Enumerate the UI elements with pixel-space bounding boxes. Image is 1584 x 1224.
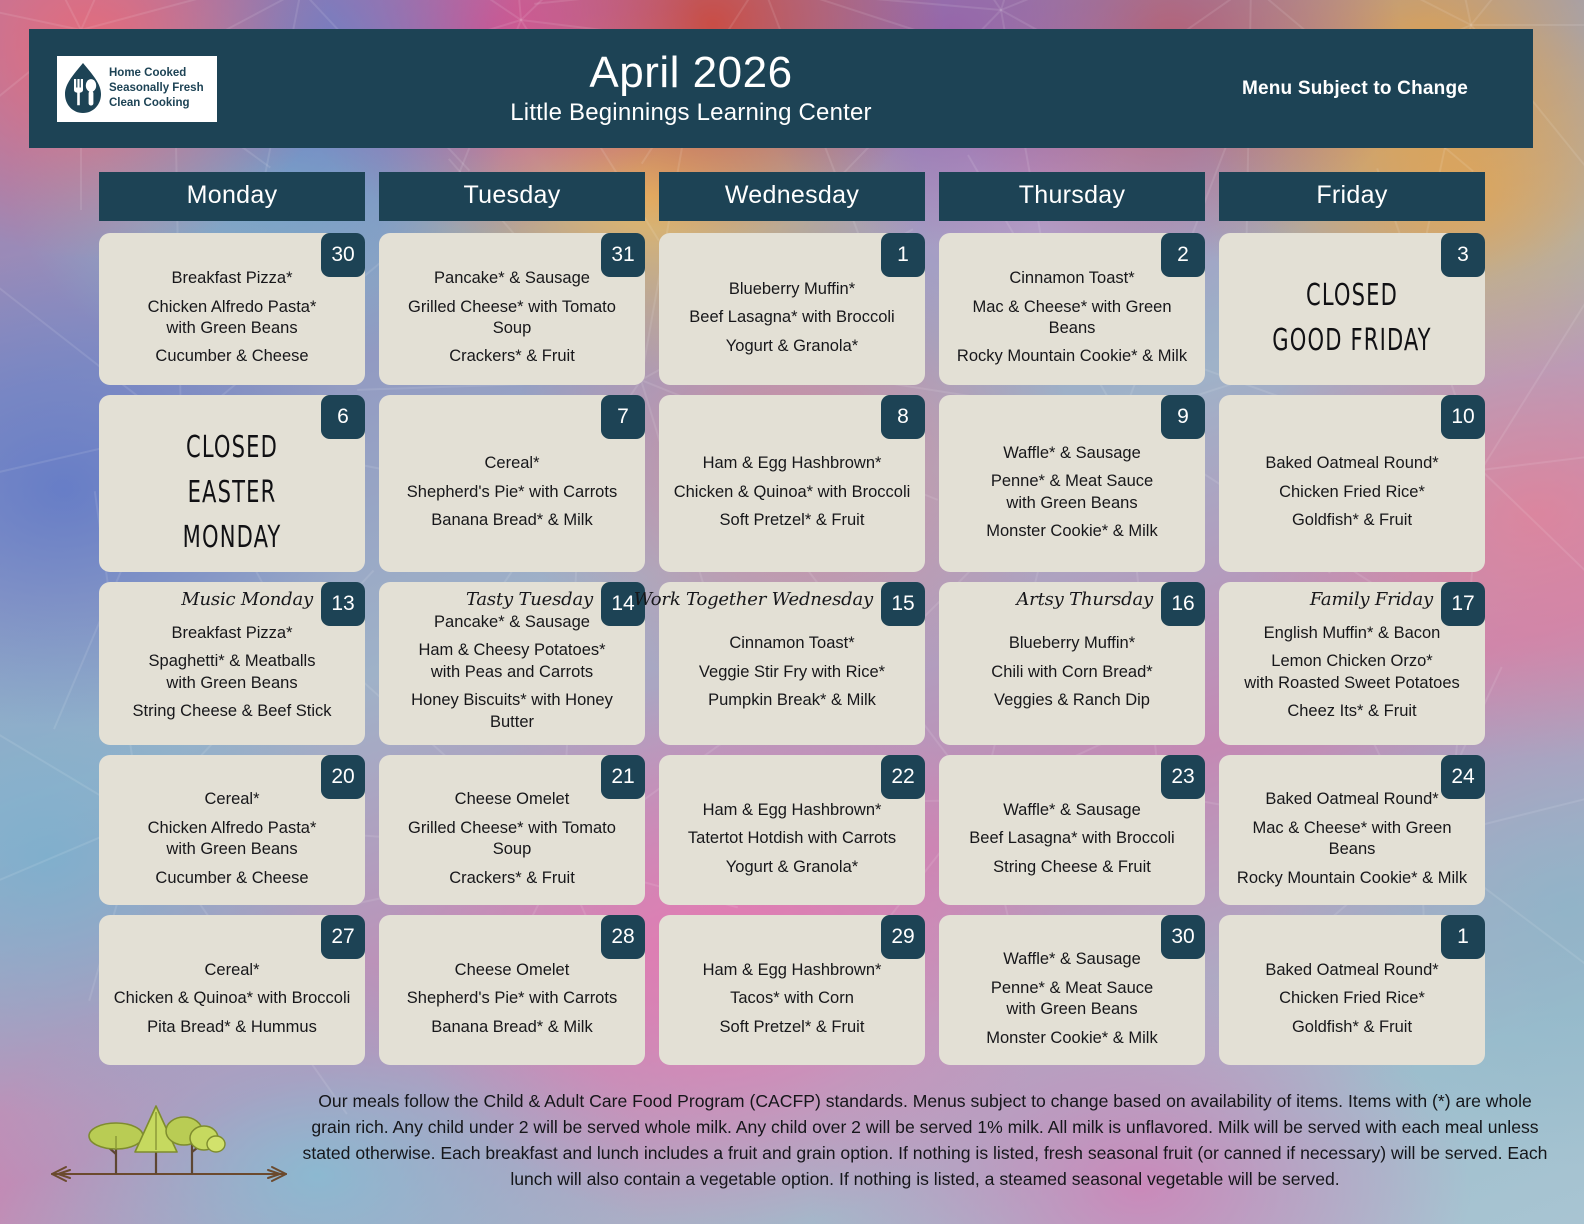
meal-item: Ham & Egg Hashbrown* (669, 960, 915, 981)
meal-item: Chicken Alfredo Pasta*with Green Beans (109, 818, 355, 861)
meal-line: Chicken & Quinoa* with Broccoli (109, 988, 355, 1009)
day-cell[interactable]: 10Baked Oatmeal Round*Chicken Fried Rice… (1219, 395, 1485, 572)
meal-line: Banana Bread* & Milk (389, 510, 635, 531)
meal-list: Waffle* & SausagePenne* & Meat Saucewith… (949, 949, 1195, 1049)
day-number: 7 (601, 395, 645, 439)
meal-line: Ham & Egg Hashbrown* (669, 800, 915, 821)
meal-line: Penne* & Meat Sauce (949, 471, 1195, 492)
meal-item: Cucumber & Cheese (109, 346, 355, 367)
day-cell[interactable]: Music Monday13Breakfast Pizza*Spaghetti*… (99, 582, 365, 745)
closed-line: GOOD FRIDAY (1256, 318, 1448, 363)
meal-line: Honey Biscuits* with Honey Butter (389, 690, 635, 733)
day-number: 29 (881, 915, 925, 959)
meal-line: Waffle* & Sausage (949, 443, 1195, 464)
meal-line: Baked Oatmeal Round* (1229, 453, 1475, 474)
meal-line: Rocky Mountain Cookie* & Milk (1229, 868, 1475, 889)
day-cell[interactable]: 9Waffle* & SausagePenne* & Meat Saucewit… (939, 395, 1205, 572)
meal-item: Baked Oatmeal Round* (1229, 960, 1475, 981)
meal-line: String Cheese & Beef Stick (109, 701, 355, 722)
meal-item: Rocky Mountain Cookie* & Milk (1229, 868, 1475, 889)
meal-list: Ham & Egg Hashbrown*Tatertot Hotdish wit… (669, 800, 915, 878)
meal-item: Cucumber & Cheese (109, 868, 355, 889)
day-number: 15 (881, 582, 925, 626)
meal-item: Cheese Omelet (389, 789, 635, 810)
day-cell[interactable]: 28Cheese OmeletShepherd's Pie* with Carr… (379, 915, 645, 1065)
closed-notice: CLOSEDGOOD FRIDAY (1229, 273, 1475, 363)
meal-list: Cinnamon Toast*Veggie Stir Fry with Rice… (669, 633, 915, 711)
day-number: 3 (1441, 233, 1485, 277)
meal-line: Mac & Cheese* with Green Beans (1229, 818, 1475, 861)
meal-item: Pumpkin Break* & Milk (669, 690, 915, 711)
meal-list: Pancake* & SausageHam & Cheesy Potatoes*… (389, 612, 635, 733)
day-cell[interactable]: 7Cereal*Shepherd's Pie* with CarrotsBana… (379, 395, 645, 572)
day-cell[interactable]: 1Baked Oatmeal Round*Chicken Fried Rice*… (1219, 915, 1485, 1065)
meal-item: Goldfish* & Fruit (1229, 1017, 1475, 1038)
meal-list: Baked Oatmeal Round*Chicken Fried Rice*G… (1229, 453, 1475, 531)
title-block: April 2026 Little Beginnings Learning Ce… (177, 50, 1205, 126)
meal-line: Ham & Egg Hashbrown* (669, 453, 915, 474)
calendar-week-row: 30Breakfast Pizza*Chicken Alfredo Pasta*… (99, 233, 1485, 385)
meal-list: Cheese OmeletGrilled Cheese* with Tomato… (389, 789, 635, 889)
menu-calendar: MondayTuesdayWednesdayThursdayFriday 30B… (99, 172, 1485, 1075)
meal-item: Waffle* & Sausage (949, 949, 1195, 970)
meal-line: with Roasted Sweet Potatoes (1229, 673, 1475, 694)
meal-line: Veggies & Ranch Dip (949, 690, 1195, 711)
meal-line: Mac & Cheese* with Green Beans (949, 297, 1195, 340)
meal-item: Banana Bread* & Milk (389, 1017, 635, 1038)
meal-line: Cereal* (389, 453, 635, 474)
meal-item: Cinnamon Toast* (669, 633, 915, 654)
meal-item: Lemon Chicken Orzo*with Roasted Sweet Po… (1229, 651, 1475, 694)
day-header-monday: Monday (99, 172, 365, 221)
meal-item: Cinnamon Toast* (949, 268, 1195, 289)
meal-line: Banana Bread* & Milk (389, 1017, 635, 1038)
meal-line: Goldfish* & Fruit (1229, 1017, 1475, 1038)
meal-line: Crackers* & Fruit (389, 868, 635, 889)
meal-item: Monster Cookie* & Milk (949, 1028, 1195, 1049)
day-cell[interactable]: 6CLOSEDEASTER MONDAY (99, 395, 365, 572)
meal-line: Rocky Mountain Cookie* & Milk (949, 346, 1195, 367)
calendar-week-row: 20Cereal*Chicken Alfredo Pasta*with Gree… (99, 755, 1485, 905)
meal-line: Pumpkin Break* & Milk (669, 690, 915, 711)
meal-list: Cereal*Chicken & Quinoa* with BroccoliPi… (109, 960, 355, 1038)
meal-line: Beef Lasagna* with Broccoli (949, 828, 1195, 849)
meal-item: Veggie Stir Fry with Rice* (669, 662, 915, 683)
meal-item: Blueberry Muffin* (949, 633, 1195, 654)
meal-line: Blueberry Muffin* (669, 279, 915, 300)
meal-line: Tatertot Hotdish with Carrots (669, 828, 915, 849)
day-number: 1 (881, 233, 925, 277)
meal-line: Baked Oatmeal Round* (1229, 789, 1475, 810)
meal-line: with Green Beans (949, 493, 1195, 514)
day-number: 8 (881, 395, 925, 439)
meal-item: Veggies & Ranch Dip (949, 690, 1195, 711)
meal-item: Soft Pretzel* & Fruit (669, 510, 915, 531)
day-header-thursday: Thursday (939, 172, 1205, 221)
day-cell[interactable]: 27Cereal*Chicken & Quinoa* with Broccoli… (99, 915, 365, 1065)
meal-line: Cucumber & Cheese (109, 868, 355, 889)
day-cell[interactable]: Artsy Thursday16Blueberry Muffin*Chili w… (939, 582, 1205, 745)
meal-item: Cheese Omelet (389, 960, 635, 981)
day-number: 30 (1161, 915, 1205, 959)
meal-item: Pancake* & Sausage (389, 268, 635, 289)
meal-item: Mac & Cheese* with Green Beans (949, 297, 1195, 340)
day-cell[interactable]: 22Ham & Egg Hashbrown*Tatertot Hotdish w… (659, 755, 925, 905)
day-number: 22 (881, 755, 925, 799)
page-header: Home Cooked Seasonally Fresh Clean Cooki… (29, 29, 1533, 148)
meal-item: Chicken Fried Rice* (1229, 482, 1475, 503)
meal-line: Chicken Alfredo Pasta* (109, 818, 355, 839)
meal-line: Grilled Cheese* with Tomato Soup (389, 297, 635, 340)
meal-item: Cereal* (109, 960, 355, 981)
meal-line: Soft Pretzel* & Fruit (669, 510, 915, 531)
day-number: 1 (1441, 915, 1485, 959)
meal-line: Cereal* (109, 789, 355, 810)
day-theme-label: Tasty Tuesday (466, 589, 593, 610)
calendar-weeks: 30Breakfast Pizza*Chicken Alfredo Pasta*… (99, 233, 1485, 1065)
meal-item: Tacos* with Corn (669, 988, 915, 1009)
cacfp-disclaimer: Our meals follow the Child & Adult Care … (300, 1088, 1550, 1192)
meal-item: Shepherd's Pie* with Carrots (389, 988, 635, 1009)
meal-line: Cheez Its* & Fruit (1229, 701, 1475, 722)
day-cell[interactable]: 1Blueberry Muffin*Beef Lasagna* with Bro… (659, 233, 925, 385)
meal-line: Blueberry Muffin* (949, 633, 1195, 654)
meal-line: Pancake* & Sausage (389, 268, 635, 289)
meal-item: English Muffin* & Bacon (1229, 623, 1475, 644)
meal-item: Ham & Cheesy Potatoes*with Peas and Carr… (389, 640, 635, 683)
meal-line: Spaghetti* & Meatballs (109, 651, 355, 672)
day-number: 30 (321, 233, 365, 277)
day-number: 10 (1441, 395, 1485, 439)
meal-item: Goldfish* & Fruit (1229, 510, 1475, 531)
day-cell[interactable]: Tasty Tuesday14Pancake* & SausageHam & C… (379, 582, 645, 745)
trees-on-arrow-illustration (44, 1086, 294, 1196)
meal-line: Cinnamon Toast* (669, 633, 915, 654)
day-theme-label: Music Monday (181, 589, 313, 610)
meal-item: Baked Oatmeal Round* (1229, 789, 1475, 810)
meal-line: Shepherd's Pie* with Carrots (389, 988, 635, 1009)
day-number: 24 (1441, 755, 1485, 799)
day-number: 2 (1161, 233, 1205, 277)
day-number: 20 (321, 755, 365, 799)
meal-list: Breakfast Pizza*Chicken Alfredo Pasta*wi… (109, 268, 355, 368)
meal-item: Rocky Mountain Cookie* & Milk (949, 346, 1195, 367)
meal-line: Cereal* (109, 960, 355, 981)
meal-line: Tacos* with Corn (669, 988, 915, 1009)
meal-line: Monster Cookie* & Milk (949, 521, 1195, 542)
meal-item: Pancake* & Sausage (389, 612, 635, 633)
meal-item: Banana Bread* & Milk (389, 510, 635, 531)
closed-line: CLOSED (136, 425, 328, 470)
meal-line: with Green Beans (949, 999, 1195, 1020)
meal-line: Cucumber & Cheese (109, 346, 355, 367)
day-cell[interactable]: 29Ham & Egg Hashbrown*Tacos* with CornSo… (659, 915, 925, 1065)
meal-item: Monster Cookie* & Milk (949, 521, 1195, 542)
meal-item: Baked Oatmeal Round* (1229, 453, 1475, 474)
day-number: 13 (321, 582, 365, 626)
meal-item: Honey Biscuits* with Honey Butter (389, 690, 635, 733)
meal-line: Chicken Fried Rice* (1229, 988, 1475, 1009)
meal-item: Blueberry Muffin* (669, 279, 915, 300)
meal-item: Cereal* (389, 453, 635, 474)
day-cell[interactable]: Family Friday17English Muffin* & BaconLe… (1219, 582, 1485, 745)
meal-line: String Cheese & Fruit (949, 857, 1195, 878)
menu-page: Home Cooked Seasonally Fresh Clean Cooki… (0, 0, 1584, 1224)
calendar-week-row: Music Monday13Breakfast Pizza*Spaghetti*… (99, 582, 1485, 745)
meal-item: Chili with Corn Bread* (949, 662, 1195, 683)
meal-line: Crackers* & Fruit (389, 346, 635, 367)
meal-item: Chicken Alfredo Pasta*with Green Beans (109, 297, 355, 340)
day-cell[interactable]: 8Ham & Egg Hashbrown*Chicken & Quinoa* w… (659, 395, 925, 572)
day-number: 21 (601, 755, 645, 799)
calendar-week-row: 6CLOSEDEASTER MONDAY7Cereal*Shepherd's P… (99, 395, 1485, 572)
meal-item: Ham & Egg Hashbrown* (669, 800, 915, 821)
meal-line: Pancake* & Sausage (389, 612, 635, 633)
meal-item: Beef Lasagna* with Broccoli (949, 828, 1195, 849)
meal-list: Waffle* & SausageBeef Lasagna* with Broc… (949, 800, 1195, 878)
meal-list: English Muffin* & BaconLemon Chicken Orz… (1229, 623, 1475, 723)
meal-list: Cereal*Shepherd's Pie* with CarrotsBanan… (389, 453, 635, 531)
meal-item: Spaghetti* & Meatballswith Green Beans (109, 651, 355, 694)
meal-list: Baked Oatmeal Round*Chicken Fried Rice*G… (1229, 960, 1475, 1038)
page-footer: Our meals follow the Child & Adult Care … (0, 1078, 1584, 1224)
meal-item: String Cheese & Beef Stick (109, 701, 355, 722)
meal-line: Chili with Corn Bread* (949, 662, 1195, 683)
meal-item: Cereal* (109, 789, 355, 810)
meal-line: Monster Cookie* & Milk (949, 1028, 1195, 1049)
meal-line: with Green Beans (109, 673, 355, 694)
meal-item: Beef Lasagna* with Broccoli (669, 307, 915, 328)
day-number: 17 (1441, 582, 1485, 626)
day-cell[interactable]: 31Pancake* & SausageGrilled Cheese* with… (379, 233, 645, 385)
meal-list: Ham & Egg Hashbrown*Tacos* with CornSoft… (669, 960, 915, 1038)
day-number: 23 (1161, 755, 1205, 799)
meal-item: Yogurt & Granola* (669, 336, 915, 357)
day-cell[interactable]: 30Breakfast Pizza*Chicken Alfredo Pasta*… (99, 233, 365, 385)
day-theme-label: Family Friday (1310, 589, 1433, 610)
meal-list: Blueberry Muffin*Chili with Corn Bread*V… (949, 633, 1195, 711)
meal-list: Breakfast Pizza*Spaghetti* & Meatballswi… (109, 623, 355, 723)
day-number: 27 (321, 915, 365, 959)
leaf-fork-spoon-icon (63, 62, 103, 116)
closed-line: EASTER MONDAY (136, 470, 328, 560)
day-of-week-header-row: MondayTuesdayWednesdayThursdayFriday (99, 172, 1485, 221)
meal-item: Penne* & Meat Saucewith Green Beans (949, 471, 1195, 514)
meal-item: Breakfast Pizza* (109, 623, 355, 644)
closed-line: CLOSED (1256, 273, 1448, 318)
meal-list: Ham & Egg Hashbrown*Chicken & Quinoa* wi… (669, 453, 915, 531)
meal-line: Ham & Cheesy Potatoes* (389, 640, 635, 661)
meal-line: Chicken Fried Rice* (1229, 482, 1475, 503)
day-header-wednesday: Wednesday (659, 172, 925, 221)
meal-line: Penne* & Meat Sauce (949, 978, 1195, 999)
day-cell[interactable]: 21Cheese OmeletGrilled Cheese* with Toma… (379, 755, 645, 905)
meal-item: Mac & Cheese* with Green Beans (1229, 818, 1475, 861)
meal-line: Yogurt & Granola* (669, 857, 915, 878)
meal-line: Waffle* & Sausage (949, 949, 1195, 970)
day-header-friday: Friday (1219, 172, 1485, 221)
meal-line: Shepherd's Pie* with Carrots (389, 482, 635, 503)
meal-line: Ham & Egg Hashbrown* (669, 960, 915, 981)
meal-line: Breakfast Pizza* (109, 268, 355, 289)
meal-line: Chicken & Quinoa* with Broccoli (669, 482, 915, 503)
meal-item: Chicken Fried Rice* (1229, 988, 1475, 1009)
page-title: April 2026 (177, 50, 1205, 96)
day-cell[interactable]: 30Waffle* & SausagePenne* & Meat Saucewi… (939, 915, 1205, 1065)
meal-item: Crackers* & Fruit (389, 868, 635, 889)
meal-line: Baked Oatmeal Round* (1229, 960, 1475, 981)
menu-subject-to-change-note: Menu Subject to Change (1205, 78, 1505, 100)
day-cell[interactable]: 20Cereal*Chicken Alfredo Pasta*with Gree… (99, 755, 365, 905)
meal-item: Shepherd's Pie* with Carrots (389, 482, 635, 503)
meal-line: Beef Lasagna* with Broccoli (669, 307, 915, 328)
day-number: 28 (601, 915, 645, 959)
meal-item: Penne* & Meat Saucewith Green Beans (949, 978, 1195, 1021)
meal-list: Baked Oatmeal Round*Mac & Cheese* with G… (1229, 789, 1475, 889)
meal-item: String Cheese & Fruit (949, 857, 1195, 878)
meal-line: Grilled Cheese* with Tomato Soup (389, 818, 635, 861)
meal-list: Cereal*Chicken Alfredo Pasta*with Green … (109, 789, 355, 889)
meal-item: Chicken & Quinoa* with Broccoli (669, 482, 915, 503)
meal-line: Pita Bread* & Hummus (109, 1017, 355, 1038)
meal-line: with Green Beans (109, 318, 355, 339)
meal-line: with Green Beans (109, 839, 355, 860)
day-cell[interactable]: 3CLOSEDGOOD FRIDAY (1219, 233, 1485, 385)
meal-item: Pita Bread* & Hummus (109, 1017, 355, 1038)
meal-line: English Muffin* & Bacon (1229, 623, 1475, 644)
meal-list: Cheese OmeletShepherd's Pie* with Carrot… (389, 960, 635, 1038)
meal-item: Cheez Its* & Fruit (1229, 701, 1475, 722)
meal-line: Lemon Chicken Orzo* (1229, 651, 1475, 672)
meal-line: Cheese Omelet (389, 960, 635, 981)
meal-item: Breakfast Pizza* (109, 268, 355, 289)
meal-line: Yogurt & Granola* (669, 336, 915, 357)
day-header-tuesday: Tuesday (379, 172, 645, 221)
meal-line: Chicken Alfredo Pasta* (109, 297, 355, 318)
center-name: Little Beginnings Learning Center (177, 99, 1205, 127)
meal-line: Soft Pretzel* & Fruit (669, 1017, 915, 1038)
meal-line: Waffle* & Sausage (949, 800, 1195, 821)
meal-item: Ham & Egg Hashbrown* (669, 453, 915, 474)
meal-item: Tatertot Hotdish with Carrots (669, 828, 915, 849)
meal-list: Blueberry Muffin*Beef Lasagna* with Broc… (669, 279, 915, 357)
meal-line: Cheese Omelet (389, 789, 635, 810)
meal-item: Waffle* & Sausage (949, 800, 1195, 821)
day-theme-label: Artsy Thursday (1016, 589, 1153, 610)
day-number: 31 (601, 233, 645, 277)
meal-line: Goldfish* & Fruit (1229, 510, 1475, 531)
meal-item: Grilled Cheese* with Tomato Soup (389, 297, 635, 340)
meal-item: Soft Pretzel* & Fruit (669, 1017, 915, 1038)
day-cell[interactable]: Work Together Wednesday15Cinnamon Toast*… (659, 582, 925, 745)
meal-item: Crackers* & Fruit (389, 346, 635, 367)
meal-list: Waffle* & SausagePenne* & Meat Saucewith… (949, 443, 1195, 543)
day-number: 9 (1161, 395, 1205, 439)
day-theme-label: Work Together Wednesday (634, 589, 873, 610)
meal-item: Chicken & Quinoa* with Broccoli (109, 988, 355, 1009)
meal-line: Cinnamon Toast* (949, 268, 1195, 289)
day-cell[interactable]: 23Waffle* & SausageBeef Lasagna* with Br… (939, 755, 1205, 905)
day-number: 16 (1161, 582, 1205, 626)
meal-line: Veggie Stir Fry with Rice* (669, 662, 915, 683)
day-cell[interactable]: 24Baked Oatmeal Round*Mac & Cheese* with… (1219, 755, 1485, 905)
meal-list: Pancake* & SausageGrilled Cheese* with T… (389, 268, 635, 368)
meal-list: Cinnamon Toast*Mac & Cheese* with Green … (949, 268, 1195, 368)
day-cell[interactable]: 2Cinnamon Toast*Mac & Cheese* with Green… (939, 233, 1205, 385)
meal-line: Breakfast Pizza* (109, 623, 355, 644)
closed-notice: CLOSEDEASTER MONDAY (109, 425, 355, 560)
meal-item: Yogurt & Granola* (669, 857, 915, 878)
meal-line: with Peas and Carrots (389, 662, 635, 683)
meal-item: Grilled Cheese* with Tomato Soup (389, 818, 635, 861)
meal-item: Waffle* & Sausage (949, 443, 1195, 464)
calendar-week-row: 27Cereal*Chicken & Quinoa* with Broccoli… (99, 915, 1485, 1065)
